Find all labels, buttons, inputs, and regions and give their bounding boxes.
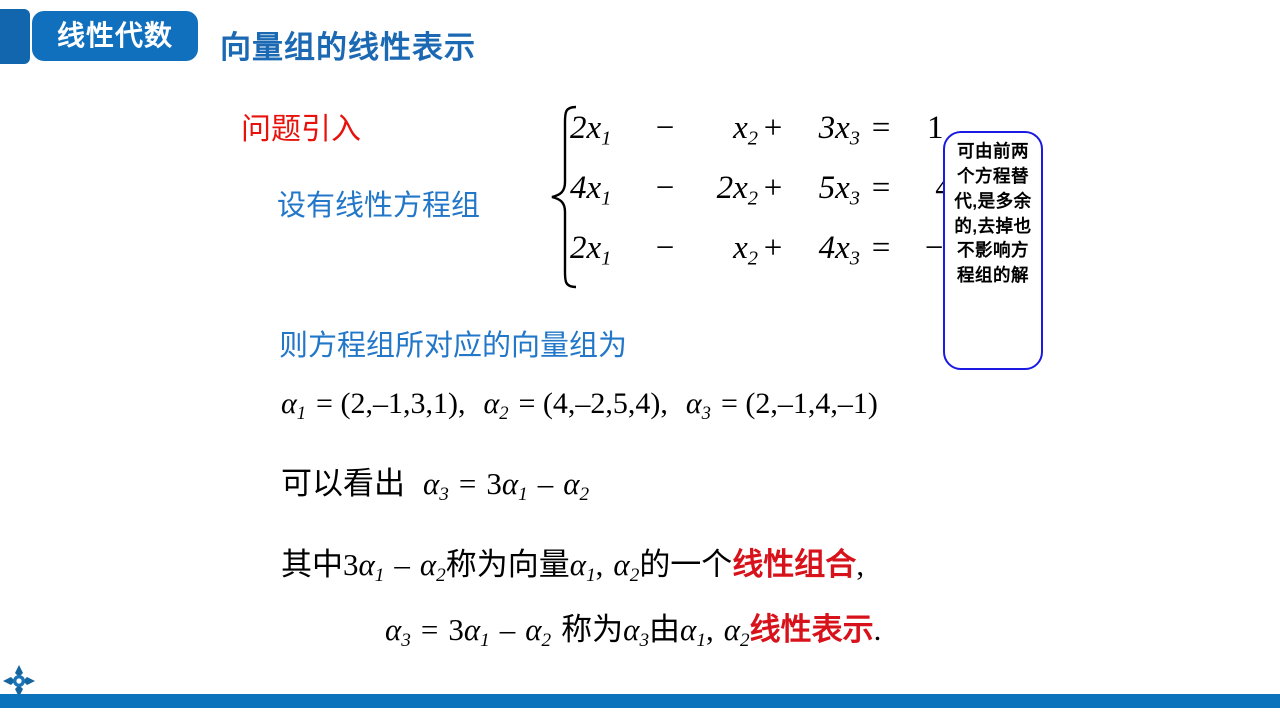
observation-line: 可以看出α3=3α1–α2 — [281, 458, 589, 506]
equation-row: 2x1 − x2 + 4x3 = −1 — [570, 230, 960, 290]
linear-representation-line: α3=3α1–α2称为α3由α1,α2线性表示. — [385, 604, 881, 652]
expression-vector0-symbol: α — [623, 612, 639, 647]
combination-prefix: 其中 — [281, 547, 343, 582]
observation-term1-subscript: 1 — [518, 484, 528, 505]
callout-text: 可由前两个方程替代,是多余的,去掉也不影响方程组的解 — [949, 139, 1037, 288]
observation-lhs-symbol: α — [423, 466, 439, 501]
equation-term-3: 4x3 — [788, 230, 860, 271]
vector-alpha1-subscript: 1 — [297, 403, 306, 424]
linear-combination-line: 其中3α1–α2称为向量α1,α2的一个线性组合, — [281, 539, 864, 587]
observation-equals: = — [459, 466, 476, 501]
vector-alpha3-value: = (2,–1,4,–1) — [721, 387, 878, 420]
expression-middle-text: 称为 — [561, 612, 623, 647]
expression-equals: = — [421, 612, 438, 647]
callout-box: 可由前两个方程替代,是多余的,去掉也不影响方程组的解 — [943, 131, 1043, 370]
observation-term2-subscript: 2 — [580, 484, 590, 505]
expression-term2-symbol: α — [525, 612, 541, 647]
expression-vector2-subscript: 2 — [740, 630, 750, 651]
combination-vector2-symbol: α — [613, 547, 629, 582]
equation-equals: = — [860, 170, 902, 207]
equation-term-2: 2x2 — [682, 170, 758, 211]
compass-diamond-ornament-icon — [2, 664, 36, 698]
equation-equals: = — [860, 230, 902, 267]
vector-alpha2-subscript: 2 — [499, 403, 508, 424]
vector-definitions-line: α1= (2,–1,3,1),α2= (4,–2,5,4),α3= (2,–1,… — [281, 387, 878, 425]
footer-bar — [0, 694, 1280, 708]
observation-term1-symbol: α — [502, 466, 518, 501]
vector-alpha1-value: = (2,–1,3,1), — [316, 387, 465, 420]
expression-tail-punct: . — [874, 612, 882, 647]
expression-lhs-symbol: α — [385, 612, 401, 647]
observation-term2-symbol: α — [563, 466, 579, 501]
expression-vector0-subscript: 3 — [639, 630, 649, 651]
equation-operator-1: − — [648, 230, 682, 267]
expression-comma: , — [706, 612, 714, 647]
observation-prefix: 可以看出 — [281, 466, 405, 501]
combination-coefficient: 3 — [343, 547, 359, 582]
equation-row: 4x1 − 2x2 + 5x3 = 4, — [570, 170, 960, 230]
combination-middle-text: 称为向量 — [446, 547, 570, 582]
vector-alpha2-symbol: α — [483, 387, 499, 420]
vectors-label: 则方程组所对应的向量组为 — [279, 322, 627, 364]
expression-term1-subscript: 1 — [480, 630, 490, 651]
observation-lhs-subscript: 3 — [439, 484, 449, 505]
intro-label: 问题引入 — [241, 104, 361, 148]
equation-term-2: x2 — [682, 230, 758, 271]
combination-term1-subscript: 1 — [375, 565, 385, 586]
combination-term1-symbol: α — [359, 547, 375, 582]
observation-coefficient: 3 — [486, 466, 502, 501]
course-badge-label: 线性代数 — [57, 22, 173, 50]
equation-term-3: 5x3 — [788, 170, 860, 211]
combination-term2-subscript: 2 — [436, 565, 446, 586]
combination-highlight-term: 线性组合 — [732, 547, 856, 582]
equation-operator-2: + — [758, 170, 788, 207]
expression-coefficient: 3 — [448, 612, 464, 647]
combination-vector1-subscript: 1 — [586, 565, 596, 586]
slide-header: 线性代数 向量组的线性表示 — [0, 0, 1280, 78]
course-badge: 线性代数 — [30, 9, 200, 63]
expression-term2-subscript: 2 — [542, 630, 552, 651]
equation-row: 2x1 − x2 + 3x3 = 1 , — [570, 110, 960, 170]
expression-by-text: 由 — [649, 612, 680, 647]
slide-title: 向量组的线性表示 — [220, 22, 476, 67]
equation-operator-1: − — [648, 110, 682, 147]
equation-equals: = — [860, 110, 902, 147]
expression-minus: – — [500, 612, 516, 647]
combination-minus: – — [394, 547, 410, 582]
equation-operator-2: + — [758, 110, 788, 147]
equation-term-3: 3x3 — [788, 110, 860, 151]
equation-system: 2x1 − x2 + 3x3 = 1 , 4x1 − 2x2 + 5x3 = 4… — [570, 110, 960, 290]
combination-tail-punct: , — [856, 547, 864, 582]
expression-highlight-term: 线性表示 — [750, 612, 874, 647]
combination-vector2-subscript: 2 — [630, 565, 640, 586]
equation-operator-2: + — [758, 230, 788, 267]
vector-alpha1-symbol: α — [281, 387, 297, 420]
combination-term2-symbol: α — [420, 547, 436, 582]
expression-term1-symbol: α — [464, 612, 480, 647]
vector-alpha3-symbol: α — [686, 387, 702, 420]
combination-comma: , — [596, 547, 604, 582]
combination-suffix-text: 的一个 — [639, 547, 732, 582]
expression-vector1-symbol: α — [680, 612, 696, 647]
equation-term-2: x2 — [682, 110, 758, 151]
observation-minus: – — [538, 466, 554, 501]
equation-term-1: 2x1 — [570, 230, 648, 271]
expression-lhs-subscript: 3 — [401, 630, 411, 651]
expression-vector2-symbol: α — [724, 612, 740, 647]
equation-term-1: 4x1 — [570, 170, 648, 211]
equation-operator-1: − — [648, 170, 682, 207]
vector-alpha3-subscript: 3 — [702, 403, 711, 424]
expression-vector1-subscript: 1 — [696, 630, 706, 651]
combination-vector1-symbol: α — [570, 547, 586, 582]
equation-term-1: 2x1 — [570, 110, 648, 151]
system-label: 设有线性方程组 — [277, 182, 480, 224]
header-accent-square — [0, 9, 30, 64]
vector-alpha2-value: = (4,–2,5,4), — [519, 387, 668, 420]
